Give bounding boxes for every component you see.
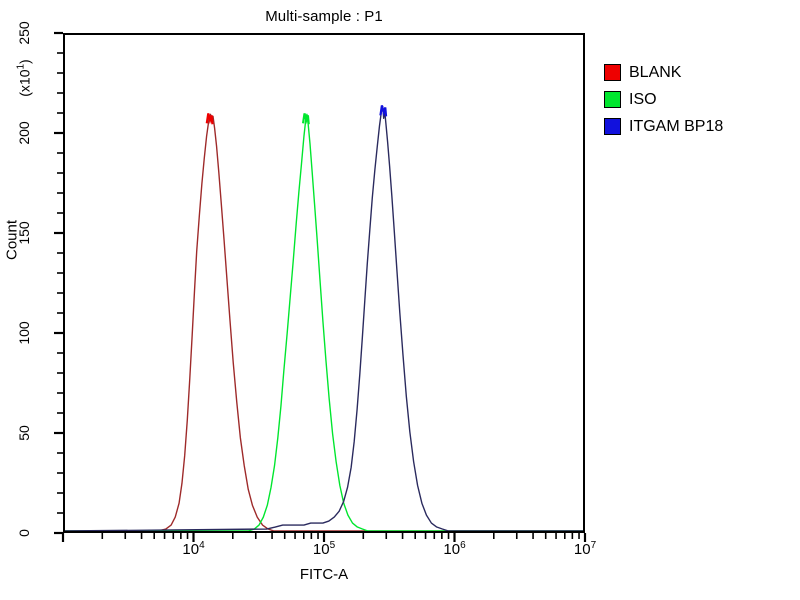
x-axis-title: FITC-A: [63, 566, 585, 583]
x-axis-tick-label: 105: [313, 540, 335, 558]
x-axis-tick-mantissa: 10: [313, 541, 330, 558]
legend-item[interactable]: ITGAM BP18: [604, 114, 794, 139]
x-axis-tick-exponent: 6: [460, 540, 466, 551]
series-curve-iso: [65, 114, 583, 531]
legend-item-label: ITGAM BP18: [629, 119, 723, 135]
legend: BLANKISOITGAM BP18: [604, 60, 794, 141]
x-axis-tick-exponent: 7: [591, 540, 597, 551]
x-axis-tick-mantissa: 10: [574, 541, 591, 558]
series-curve-blank: [65, 114, 583, 531]
x-axis-tick-exponent: 5: [330, 540, 336, 551]
plot-area: [63, 33, 585, 533]
histogram-curves: [65, 35, 583, 531]
series-peak-marker-iso: [303, 113, 309, 124]
x-axis-tick-label: 104: [182, 540, 204, 558]
legend-color-swatch: [604, 118, 621, 135]
flow-cytometry-histogram: Multi-sample : P1 (x101) Count 050100150…: [0, 0, 800, 600]
x-axis-tick-mantissa: 10: [443, 541, 460, 558]
legend-item-label: ISO: [629, 92, 657, 108]
legend-item[interactable]: ISO: [604, 87, 794, 112]
series-peak-marker-itgam-bp18: [380, 105, 386, 116]
x-axis-tick-label: 107: [574, 540, 596, 558]
legend-item[interactable]: BLANK: [604, 60, 794, 85]
series-curve-itgam-bp18: [65, 106, 583, 531]
legend-item-label: BLANK: [629, 65, 681, 81]
x-axis-tick-mantissa: 10: [182, 541, 199, 558]
legend-color-swatch: [604, 64, 621, 81]
legend-color-swatch: [604, 91, 621, 108]
series-peak-marker-blank: [207, 113, 213, 124]
x-axis-tick-label: 106: [443, 540, 465, 558]
x-axis-tick-exponent: 4: [199, 540, 205, 551]
